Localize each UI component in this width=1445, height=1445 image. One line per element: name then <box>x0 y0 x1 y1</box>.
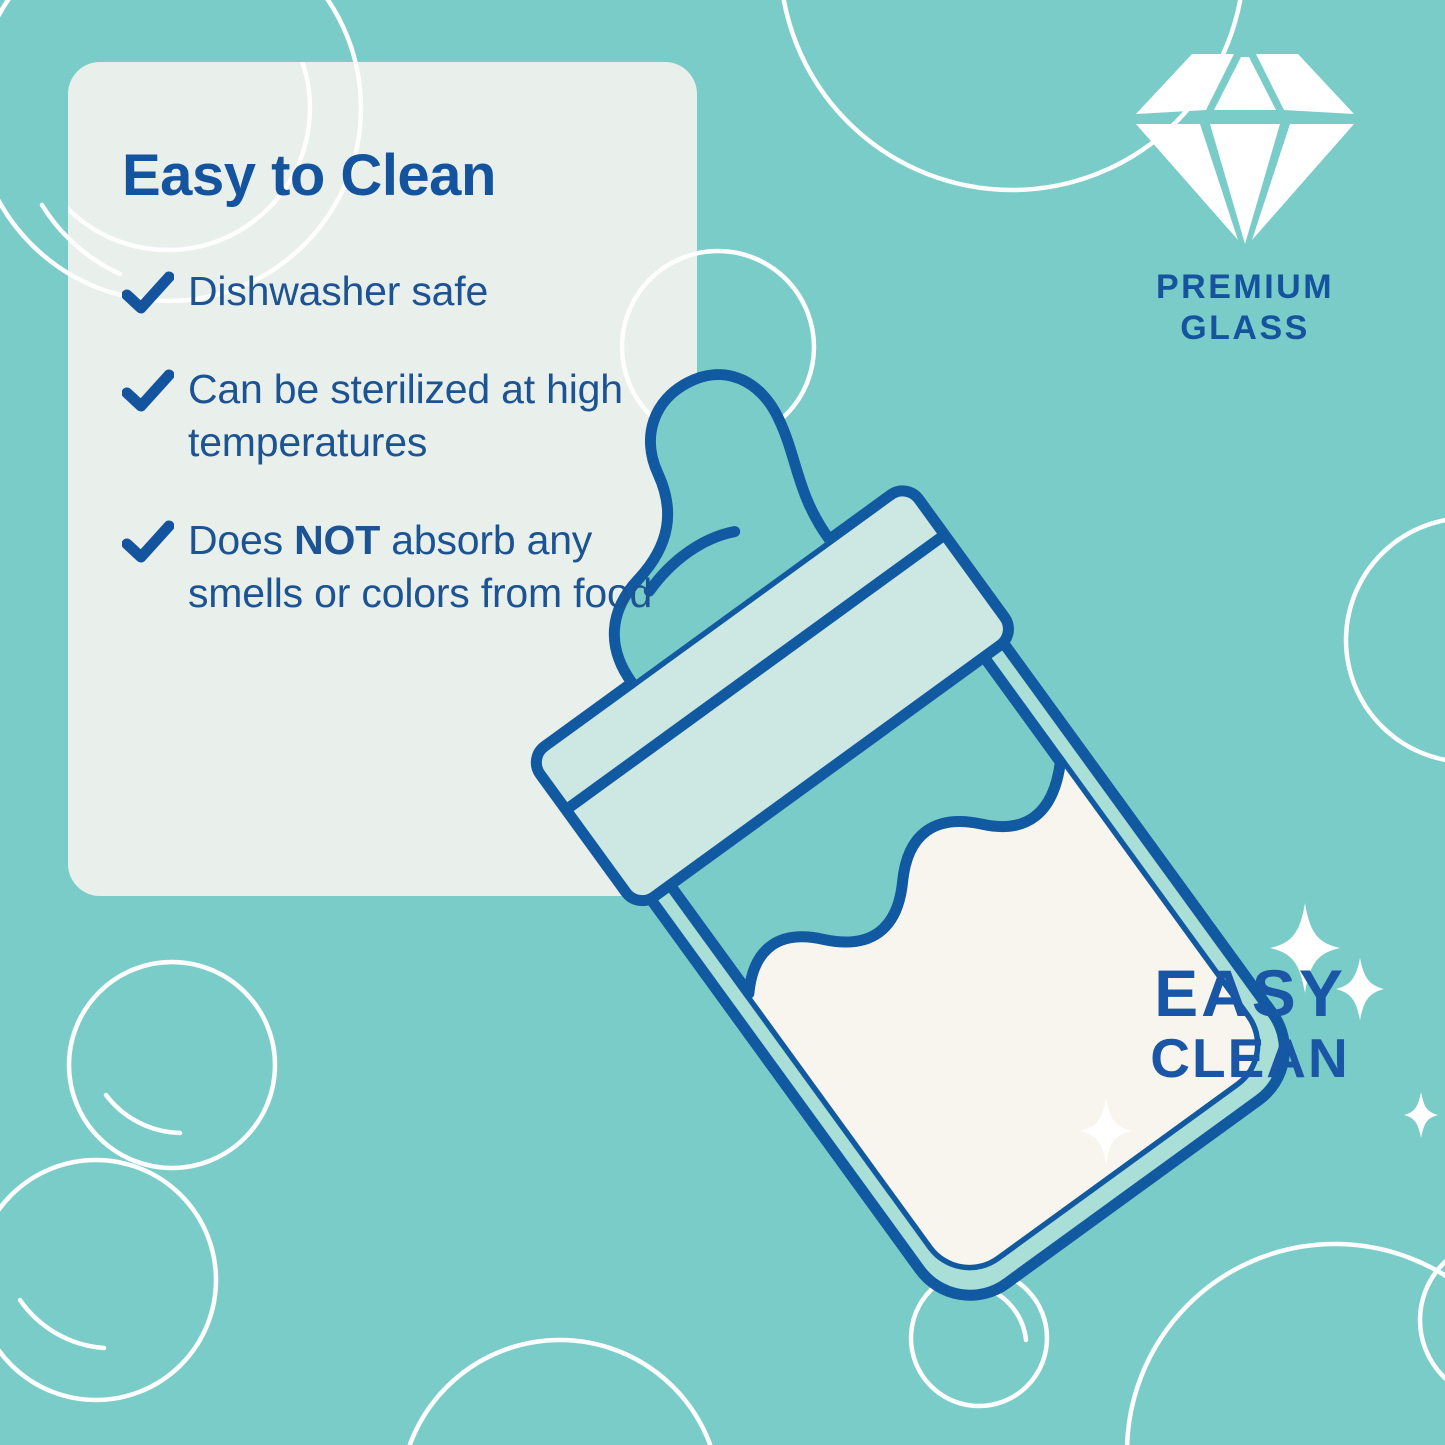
premium-label-line1: PREMIUM <box>1090 267 1400 308</box>
badges-layer: PREMIUM GLASS EASY CLEAN <box>0 0 1445 1445</box>
sparkle-icon <box>1080 1098 1132 1164</box>
easy-clean-line1: EASY <box>1085 960 1415 1026</box>
easy-clean-line2: CLEAN <box>1085 1026 1415 1091</box>
premium-badge-label: PREMIUM GLASS <box>1090 267 1400 350</box>
easy-clean-badge: EASY CLEAN <box>1085 960 1415 1091</box>
sparkle-icon <box>1404 1092 1438 1138</box>
infographic-canvas: Easy to Clean Dishwasher safe Can be ste… <box>0 0 1445 1445</box>
premium-label-line2: GLASS <box>1090 308 1400 349</box>
premium-glass-badge: PREMIUM GLASS <box>1090 48 1400 350</box>
diamond-icon <box>1130 48 1360 248</box>
